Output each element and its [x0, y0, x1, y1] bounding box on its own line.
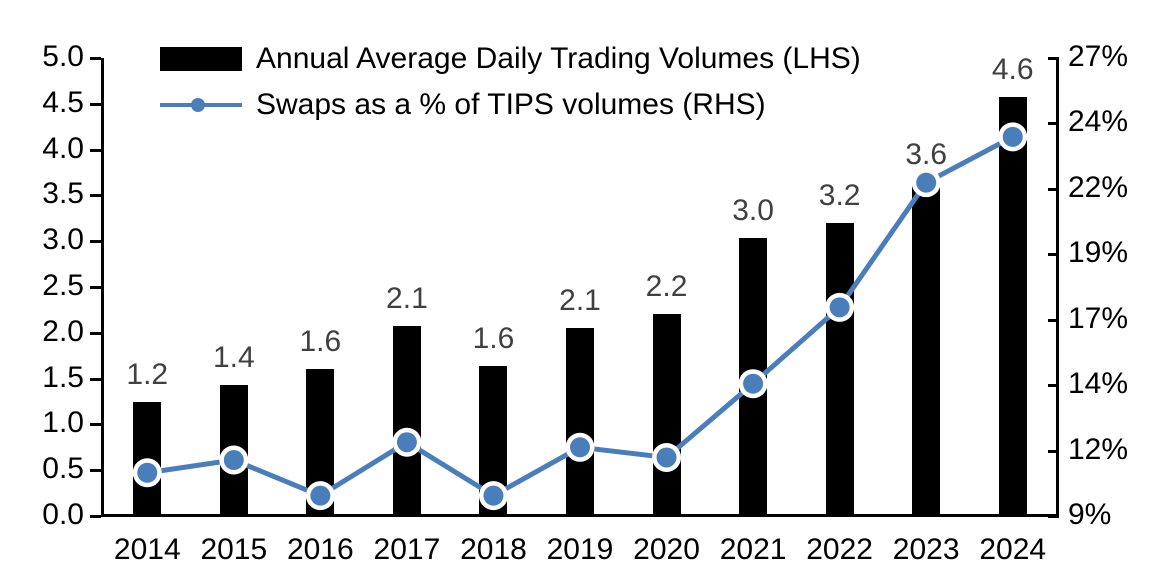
right-axis-tick-label: 22%	[1068, 173, 1128, 203]
bar-data-label: 3.0	[718, 196, 788, 226]
x-axis-tick-label: 2020	[622, 535, 712, 565]
left-axis-tick	[90, 194, 101, 197]
chart-container: 0.00.51.01.52.02.53.03.54.04.55.0 9%12%1…	[0, 0, 1152, 584]
right-axis-tick-label: 14%	[1068, 369, 1128, 399]
x-axis-tick-label: 2024	[968, 535, 1058, 565]
left-axis-tick	[90, 515, 101, 518]
legend: Annual Average Daily Trading Volumes (LH…	[160, 36, 861, 128]
x-axis-tick-label: 2014	[102, 535, 192, 565]
line-marker	[657, 447, 677, 467]
left-axis-tick-label: 3.5	[42, 179, 84, 209]
left-axis-tick	[90, 423, 101, 426]
x-axis-tick-label: 2022	[795, 535, 885, 565]
legend-label-bars: Annual Average Daily Trading Volumes (LH…	[256, 44, 861, 74]
bar-data-label: 3.2	[805, 181, 875, 211]
left-axis-tick-label: 0.5	[42, 454, 84, 484]
left-axis-tick-label: 5.0	[42, 42, 84, 72]
right-axis-tick-label: 27%	[1068, 42, 1128, 72]
line-marker	[483, 486, 503, 506]
bar-data-label: 1.4	[199, 343, 269, 373]
right-axis-tick-label: 12%	[1068, 435, 1128, 465]
right-axis-tick-label: 24%	[1068, 107, 1128, 137]
x-axis-tick-label: 2018	[448, 535, 538, 565]
line-marker	[570, 437, 590, 457]
line-marker	[1003, 127, 1023, 147]
line-marker	[830, 297, 850, 317]
bar-data-label: 2.2	[632, 272, 702, 302]
left-axis-tick-label: 0.0	[42, 500, 84, 530]
left-axis-tick	[90, 378, 101, 381]
line-marker	[397, 432, 417, 452]
left-axis-tick-label: 2.0	[42, 317, 84, 347]
legend-label-line: Swaps as a % of TIPS volumes (RHS)	[256, 90, 766, 120]
bar-swatch-icon	[160, 47, 242, 71]
left-axis-tick-label: 1.0	[42, 408, 84, 438]
legend-item-bars: Annual Average Daily Trading Volumes (LH…	[160, 36, 861, 82]
line-marker-swatch-icon	[160, 93, 242, 117]
legend-item-line: Swaps as a % of TIPS volumes (RHS)	[160, 82, 861, 128]
bar-data-label: 1.6	[458, 324, 528, 354]
line-marker	[137, 463, 157, 483]
line-marker	[224, 450, 244, 470]
left-axis-tick	[90, 286, 101, 289]
bar-data-label: 3.6	[891, 140, 961, 170]
right-axis-spine	[1056, 58, 1059, 517]
bar-data-label: 1.2	[112, 360, 182, 390]
bar-data-label: 4.6	[978, 55, 1048, 85]
x-axis-tick-label: 2017	[362, 535, 452, 565]
right-axis-tick-label: 19%	[1068, 238, 1128, 268]
left-axis-tick-label: 3.0	[42, 225, 84, 255]
left-axis-tick	[90, 332, 101, 335]
left-axis-tick	[90, 103, 101, 106]
bar-data-label: 2.1	[545, 286, 615, 316]
line-marker	[743, 374, 763, 394]
bar-data-label: 2.1	[372, 284, 442, 314]
left-axis-tick	[90, 149, 101, 152]
x-axis-tick-label: 2019	[535, 535, 625, 565]
bar-data-label: 1.6	[285, 327, 355, 357]
line-marker	[310, 486, 330, 506]
right-axis-tick-label: 17%	[1068, 304, 1128, 334]
x-axis-tick-label: 2021	[708, 535, 798, 565]
left-axis-tick	[90, 469, 101, 472]
x-axis-tick-label: 2015	[189, 535, 279, 565]
x-axis-tick-label: 2023	[881, 535, 971, 565]
left-axis-tick-label: 2.5	[42, 271, 84, 301]
line-marker	[916, 173, 936, 193]
left-axis-tick	[90, 57, 101, 60]
left-axis-tick-label: 4.5	[42, 88, 84, 118]
x-axis-tick-label: 2016	[275, 535, 365, 565]
left-axis-tick	[90, 240, 101, 243]
left-axis-tick-label: 4.0	[42, 134, 84, 164]
left-axis-tick-label: 1.5	[42, 363, 84, 393]
right-axis-tick-label: 9%	[1068, 500, 1111, 530]
